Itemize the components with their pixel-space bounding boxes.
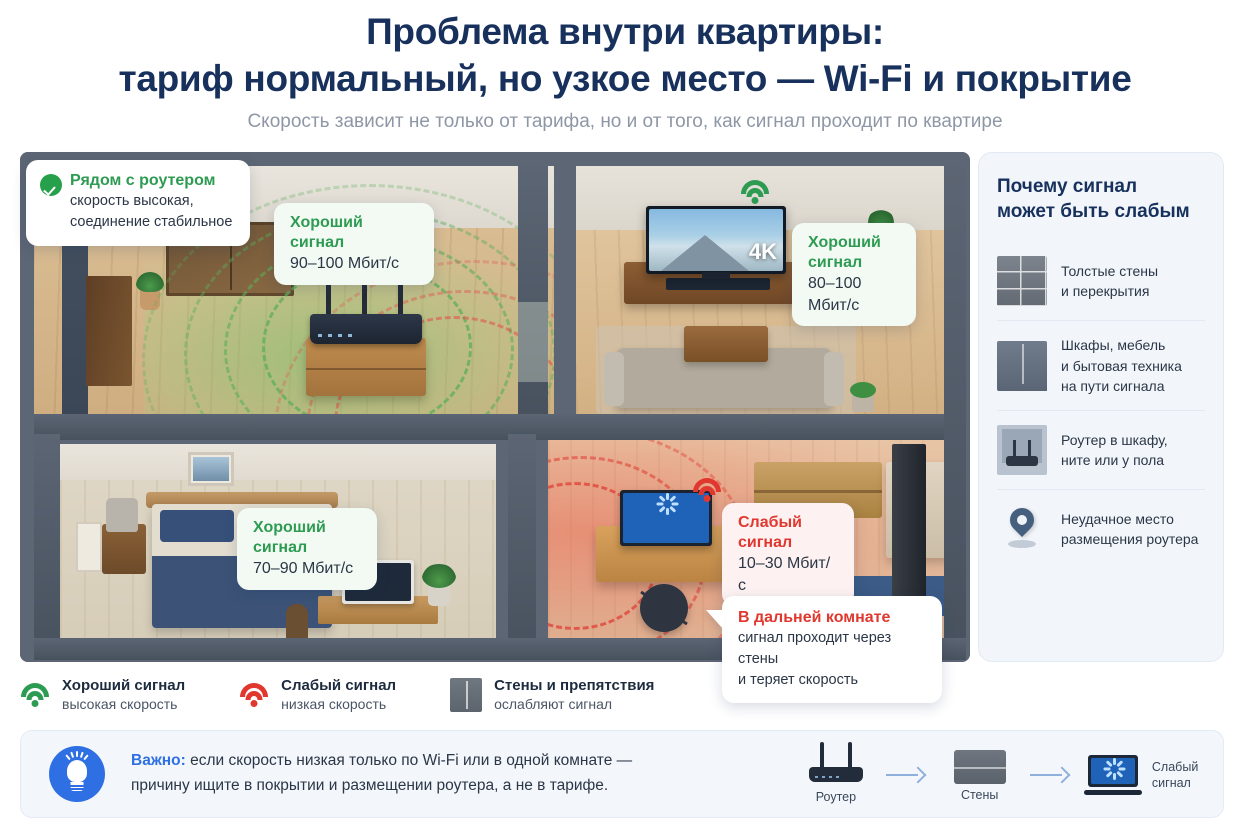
- panel-item-label: Неудачное место размещения роутера: [1061, 509, 1198, 550]
- pin-shadow: [1008, 540, 1036, 548]
- bulb-glass: [67, 760, 87, 782]
- panel-item-line-2: и бытовая техника: [1061, 356, 1182, 376]
- flow-node-laptop: [1082, 755, 1144, 795]
- callout-line-2: и теряет скорость: [738, 670, 926, 691]
- legend-item-good: Хороший сигнал высокая скорость: [20, 676, 185, 714]
- footer-text: Важно: если скорость низкая только по Wi…: [131, 749, 632, 799]
- router-icon: [310, 314, 422, 344]
- interior-wall: [34, 434, 60, 652]
- legend-sub: высокая скорость: [62, 695, 185, 714]
- panel-item-line-2: ните или у пола: [1061, 450, 1168, 470]
- router-icon: [794, 744, 878, 786]
- flow-result-line-1: Слабый: [1152, 759, 1224, 775]
- panel-item-line-1: Роутер в шкафу,: [1061, 430, 1168, 450]
- legend-text: Слабый сигнал низкая скорость: [281, 676, 396, 714]
- doorway: [518, 302, 548, 382]
- tv-4k-badge: 4K: [749, 239, 777, 265]
- legend-item-walls: Стены и препятствия ослабляют сигнал: [450, 676, 654, 714]
- panel-title: Почему сигнал может быть слабым: [997, 175, 1205, 224]
- panel-item-bad-location: Неудачное место размещения роутера: [997, 489, 1205, 568]
- panel-title-line-2: может быть слабым: [997, 200, 1205, 225]
- laptop-loading-icon: [1084, 755, 1142, 795]
- legend-title: Слабый сигнал: [281, 676, 396, 696]
- callout-line-1: сигнал проходит через стены: [738, 628, 926, 670]
- office-chair: [640, 584, 688, 632]
- wall-art: [188, 452, 234, 486]
- router-table: [306, 338, 426, 396]
- callout-weak-far-room: Слабый сигнал 10–30 Мбит/с: [722, 503, 854, 606]
- interior-wall: [34, 414, 944, 440]
- legend: Хороший сигнал высокая скорость Слабый с…: [20, 668, 740, 722]
- wifi-red-icon: [692, 478, 722, 502]
- panel-item-line-1: Толстые стены: [1061, 261, 1158, 281]
- flow-node-walls: Стены: [938, 746, 1022, 804]
- infographic-page: Проблема внутри квартиры: тариф нормальн…: [0, 0, 1250, 833]
- panel-item-router-placement: Роутер в шкафу, ните или у пола: [997, 410, 1205, 489]
- panel-item-line-2: и перекрытия: [1061, 281, 1158, 301]
- tv-foot: [702, 272, 730, 279]
- map-pin-icon: [997, 504, 1047, 554]
- entry-door: [86, 276, 132, 386]
- wall-icon: [450, 678, 482, 712]
- wall-icon: [954, 750, 1006, 784]
- arrow-right-icon: [886, 765, 930, 785]
- callout-title: Слабый сигнал: [738, 513, 838, 553]
- exterior-wall: [944, 166, 966, 652]
- footer-line-1-rest: если скорость низкая только по Wi-Fi или…: [186, 752, 632, 769]
- plant-icon: [428, 584, 450, 606]
- flow-result-line-2: сигнал: [1152, 775, 1224, 791]
- page-subtitle: Скорость зависит не только от тарифа, но…: [0, 111, 1250, 133]
- panel-item-line-1: Шкафы, мебель: [1061, 335, 1182, 355]
- callout-near-router: Рядом с роутером скорость высокая, соеди…: [26, 160, 250, 246]
- page-title-line-2: тариф нормальный, но узкое место — Wi-Fi…: [0, 55, 1250, 102]
- flow-caption: Стены: [938, 788, 1022, 804]
- lamp: [106, 498, 138, 532]
- panel-item-label: Толстые стены и перекрытия: [1061, 261, 1158, 302]
- callout-title: Хороший сигнал: [290, 213, 418, 253]
- callout-value: 80–100 Мбит/с: [808, 273, 900, 316]
- legend-sub: ослабляют сигнал: [494, 695, 654, 714]
- wall-art: [76, 522, 102, 572]
- callout-good-living-room: Хороший сигнал 80–100 Мбит/с: [792, 223, 916, 326]
- callout-title: Хороший сигнал: [808, 233, 900, 273]
- header: Проблема внутри квартиры: тариф нормальн…: [0, 8, 1250, 133]
- why-weak-signal-panel: Почему сигнал может быть слабым Толстые …: [978, 152, 1224, 662]
- panel-item-line-3: на пути сигнала: [1061, 376, 1182, 396]
- footer-bold: Важно:: [131, 752, 186, 769]
- legend-sub: низкая скорость: [281, 695, 396, 714]
- panel-item-furniture: Шкафы, мебель и бытовая техника на пути …: [997, 320, 1205, 410]
- panel-title-line-1: Почему сигнал: [997, 175, 1205, 200]
- coffee-table: [684, 326, 768, 362]
- callout-value: 10–30 Мбит/с: [738, 553, 838, 596]
- lightbulb-icon: [49, 746, 105, 802]
- tv-icon: 4K: [646, 206, 786, 274]
- router-in-niche-icon: [997, 425, 1047, 475]
- callout-good-router-room: Хороший сигнал 90–100 Мбит/с: [274, 203, 434, 285]
- page-title-line-1: Проблема внутри квартиры:: [0, 8, 1250, 55]
- callout-far-room-explain: В дальней комнате сигнал проходит через …: [722, 596, 942, 703]
- brick-wall-icon: [997, 256, 1047, 306]
- callout-line-2: соединение стабильное: [70, 212, 236, 233]
- flow-caption: Роутер: [794, 790, 878, 806]
- callout-line-1: скорость высокая,: [70, 191, 236, 212]
- panel-item-thick-walls: Толстые стены и перекрытия: [997, 242, 1205, 320]
- panel-item-label: Шкафы, мебель и бытовая техника на пути …: [1061, 335, 1182, 396]
- legend-text: Стены и препятствия ослабляют сигнал: [494, 676, 654, 714]
- callout-title: Рядом с роутером: [70, 171, 236, 191]
- legend-text: Хороший сигнал высокая скорость: [62, 676, 185, 714]
- tv-screen: 4K: [649, 209, 783, 271]
- callout-title: В дальней комнате: [738, 608, 926, 628]
- callout-value: 90–100 Мбит/с: [290, 253, 418, 275]
- footer-line-1: Важно: если скорость низкая только по Wi…: [131, 749, 632, 774]
- flow-node-router: Роутер: [794, 744, 878, 806]
- bulb-base: [71, 782, 84, 791]
- check-circle-icon: [40, 174, 62, 196]
- legend-title: Хороший сигнал: [62, 676, 185, 696]
- router-icon: [1006, 456, 1038, 466]
- loading-spinner-icon: [1091, 758, 1135, 784]
- pin-shape: [1005, 503, 1039, 537]
- callout-value: 70–90 Мбит/с: [253, 558, 361, 580]
- callout-title: Хороший сигнал: [253, 518, 361, 558]
- cabinet-icon: [997, 341, 1047, 391]
- footer-line-2: причину ищите в покрытии и размещении ро…: [131, 774, 632, 799]
- wifi-red-icon: [239, 683, 269, 707]
- legend-item-weak: Слабый сигнал низкая скорость: [239, 676, 396, 714]
- callout-good-bedroom: Хороший сигнал 70–90 Мбит/с: [237, 508, 377, 590]
- plant-icon: [852, 394, 874, 412]
- panel-item-line-1: Неудачное место: [1061, 509, 1198, 529]
- panel-item-line-2: размещения роутера: [1061, 529, 1198, 549]
- signal-flow-diagram: Роутер Стены Слабый: [794, 736, 1224, 814]
- panel-item-label: Роутер в шкафу, ните или у пола: [1061, 430, 1168, 471]
- wifi-green-icon: [740, 180, 770, 204]
- interior-wall: [508, 434, 536, 652]
- flow-result-label: Слабый сигнал: [1152, 759, 1224, 792]
- legend-title: Стены и препятствия: [494, 676, 654, 696]
- wifi-green-icon: [20, 683, 50, 707]
- arrow-right-icon: [1030, 765, 1074, 785]
